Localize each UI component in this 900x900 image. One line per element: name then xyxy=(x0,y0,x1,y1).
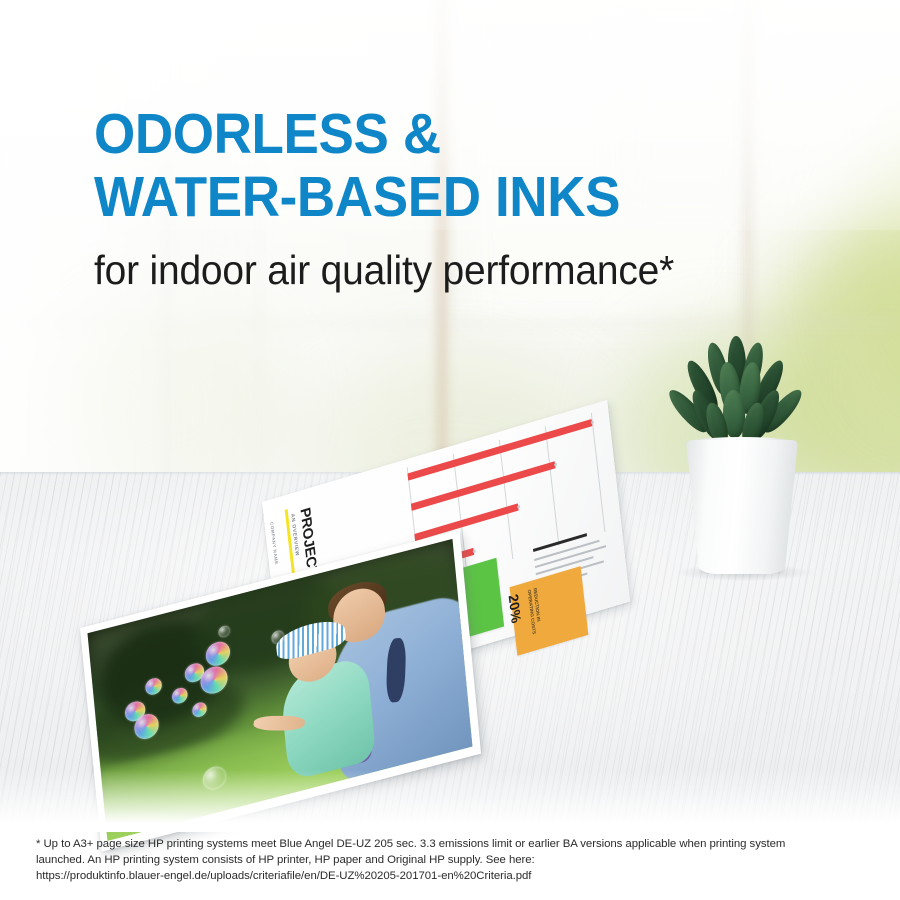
chart-gridline xyxy=(499,440,514,559)
footnote-line-1: * Up to A3+ page size HP printing system… xyxy=(36,836,876,852)
headline-line-1: ODORLESS & xyxy=(94,103,801,166)
footnote-disclaimer: * Up to A3+ page size HP printing system… xyxy=(36,836,876,885)
poster-canvas: COMPANY NAME AN OVERVIEW PROJECT HIGHLIG… xyxy=(0,0,900,900)
footnote-line-2: launched. An HP printing system consists… xyxy=(36,852,876,868)
chart-endpoint xyxy=(591,420,594,424)
headline-block: ODORLESS & WATER-BASED INKS for indoor a… xyxy=(94,103,854,295)
white-ceramic-pot xyxy=(686,440,798,574)
stat-caption: REDUCTION IN OPERATING COSTS xyxy=(525,587,544,649)
subheadline: for indoor air quality performance* xyxy=(94,245,816,295)
chart-endpoint xyxy=(554,462,557,466)
chart-gridline xyxy=(545,426,560,545)
chart-endpoint xyxy=(517,504,520,508)
stat-value: 20% xyxy=(506,592,525,625)
chart-endpoint xyxy=(473,549,476,553)
footnote-url: https://produktinfo.blauer-engel.de/uplo… xyxy=(36,868,876,884)
photo-child-arm xyxy=(253,716,306,731)
headline-line-2: WATER-BASED INKS xyxy=(94,166,801,229)
potted-succulent xyxy=(668,336,818,604)
desk-fade xyxy=(0,770,900,832)
chart-bar xyxy=(414,503,518,540)
